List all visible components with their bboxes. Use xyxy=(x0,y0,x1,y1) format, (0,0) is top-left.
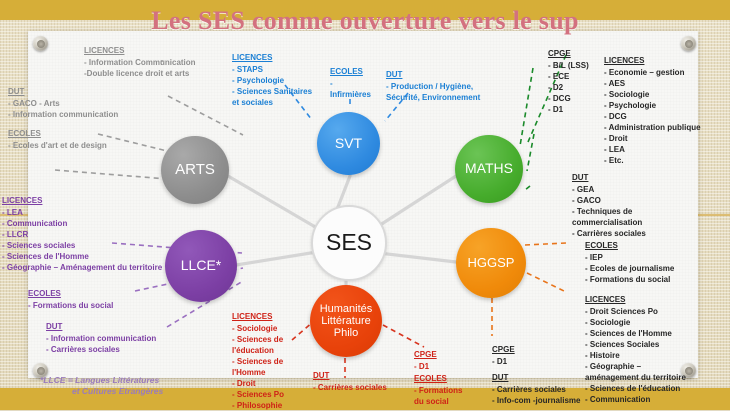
block-svt-dut: DUT - Production / Hygiène, Sécurité, En… xyxy=(386,69,491,103)
block-item: - Sciences de l'éducation xyxy=(232,334,304,356)
block-item: - Sociologie xyxy=(585,317,697,328)
block-item: - Sociologie xyxy=(604,89,709,100)
block-heading: LICENCES xyxy=(232,311,304,322)
block-heading: ECOLES xyxy=(414,373,472,384)
block-item: - Formations du social xyxy=(28,300,158,311)
block-item: - Information communication xyxy=(46,333,181,344)
block-hum-ecoles: ECOLES - Formations du social xyxy=(414,373,472,407)
block-item: - Sciences de l'Homme xyxy=(585,328,697,339)
block-item: - D1 xyxy=(548,104,606,115)
bubble-humanites-line3: Philo xyxy=(334,327,358,339)
block-item: - Droit xyxy=(232,378,304,389)
bubble-hggsp-label: HGGSP xyxy=(468,256,515,271)
block-item: - D2 xyxy=(548,82,606,93)
block-hum-dut: DUT - Carrières sociales xyxy=(313,370,398,393)
block-item: - LEA xyxy=(604,144,709,155)
bubble-arts[interactable]: ARTS xyxy=(161,136,229,204)
block-heading: DUT xyxy=(492,372,592,383)
block-item: - Sciences de l'éducation xyxy=(585,383,697,394)
block-item: - Ecoles d'art et de design xyxy=(8,140,143,151)
block-item: - Communication xyxy=(2,218,167,229)
block-item: - Géographie – aménagement du territoire xyxy=(585,361,697,383)
block-item: - Administration publique xyxy=(604,122,709,133)
block-hum-licences: LICENCES - Sociologie - Sciences de l'éd… xyxy=(232,311,304,411)
block-hum-cpge: CPGE - D1 xyxy=(414,349,474,372)
block-item: - Psychologie xyxy=(232,75,317,86)
block-heading: LICENCES xyxy=(585,294,697,305)
block-heading: CPGE xyxy=(548,48,606,59)
block-item: - Sociologie xyxy=(232,323,304,334)
block-heading: ECOLES xyxy=(585,240,695,251)
block-item: - GEA xyxy=(572,184,664,195)
block-item: - Information communication xyxy=(8,109,143,120)
bubble-humanites-line1: Humanités xyxy=(320,303,373,315)
block-item: - Psychologie xyxy=(604,100,709,111)
block-arts-dut: DUT - GACO - Arts - Information communic… xyxy=(8,86,143,120)
block-item: - Sciences Sociales xyxy=(585,339,697,350)
block-maths-dut: DUT - GEA - GACO - Techniques de commerc… xyxy=(572,172,664,239)
page-title: Les SES comme ouverture vers le sup xyxy=(0,6,730,36)
block-heading: DUT xyxy=(386,69,491,80)
block-heading: CPGE xyxy=(492,344,587,355)
block-item: - Info-com -journalisme xyxy=(492,395,592,406)
block-hggsp-cpge: CPGE - D1 xyxy=(492,344,587,367)
block-item: - Formations du social xyxy=(585,274,695,285)
block-item: - GACO xyxy=(572,195,664,206)
block-item: -Double licence droit et arts xyxy=(84,68,199,79)
block-heading: LICENCES xyxy=(604,55,709,66)
block-heading: LICENCES xyxy=(232,52,317,63)
bubble-llce-label: LLCE* xyxy=(181,258,221,274)
block-item: - Sciences sociales xyxy=(2,240,167,251)
bubble-svt[interactable]: SVT xyxy=(317,112,380,175)
block-hggsp-licences: LICENCES - Droit Sciences Po - Sociologi… xyxy=(585,294,697,405)
block-llce-ecoles: ECOLES - Formations du social xyxy=(28,288,158,311)
block-heading: DUT xyxy=(313,370,398,381)
bubble-maths-label: MATHS xyxy=(465,161,513,177)
block-item: - D1 xyxy=(414,361,474,372)
block-item: - Sciences de l'Homme xyxy=(2,251,167,262)
block-item: - Techniques de commercialisation xyxy=(572,206,664,228)
block-item: - ECE xyxy=(548,71,606,82)
block-llce-licences: LICENCES - LEA - Communication - LLCR - … xyxy=(2,195,167,273)
block-item: - Carrières sociales xyxy=(572,228,664,239)
block-hggsp-dut: DUT - Carrières sociales - Info-com -jou… xyxy=(492,372,592,406)
block-item: - Droit Sciences Po xyxy=(585,306,697,317)
block-hggsp-ecoles: ECOLES - IEP - Ecoles de journalisme - F… xyxy=(585,240,695,285)
block-item: - Philosophie xyxy=(232,400,304,411)
block-item: Infirmières xyxy=(330,89,370,100)
block-item: - GACO - Arts xyxy=(8,98,143,109)
block-item: - Carrières sociales xyxy=(492,384,592,395)
bubble-humanites-line2: Littérature xyxy=(321,315,371,327)
footnote-line-2: et Cultures Etrangères xyxy=(40,386,163,397)
block-item: - Histoire xyxy=(585,350,697,361)
block-item: Sécurité, Environnement xyxy=(386,92,491,103)
block-item: - Carrières sociales xyxy=(313,382,398,393)
block-item: - STAPS xyxy=(232,64,317,75)
block-item: - LEA xyxy=(2,207,167,218)
block-heading: ECOLES xyxy=(330,66,370,77)
bubble-hggsp[interactable]: HGGSP xyxy=(456,228,526,298)
block-item: - Information Communication xyxy=(84,57,199,68)
block-heading: ECOLES xyxy=(8,128,143,139)
block-item: - D1 xyxy=(492,356,587,367)
block-item: - Sciences de l'Homme xyxy=(232,356,304,378)
block-item: - B/L (LSS) xyxy=(548,60,606,71)
block-svt-ecoles: ECOLES - Infirmières xyxy=(330,66,370,100)
block-item: - Ecoles de journalisme xyxy=(585,263,695,274)
block-item: - xyxy=(330,78,370,89)
block-item: - Production / Hygiène, xyxy=(386,81,491,92)
block-heading: ECOLES xyxy=(28,288,158,299)
footnote-llce: *LLCE = Langues Littératures et Cultures… xyxy=(40,375,240,398)
block-item: - Droit xyxy=(604,133,709,144)
block-item: - Etc. xyxy=(604,155,709,166)
bubble-arts-label: ARTS xyxy=(175,162,215,179)
block-item: - Carrières sociales xyxy=(46,344,181,355)
footnote-line-1: *LLCE = Langues Littératures xyxy=(40,375,159,385)
block-item: - LLCR xyxy=(2,229,167,240)
bubble-ses[interactable]: SES xyxy=(311,205,387,281)
block-heading: DUT xyxy=(572,172,664,183)
block-maths-cpge: CPGE - B/L (LSS) - ECE - D2 - DCG - D1 xyxy=(548,48,606,115)
block-svt-licences: LICENCES - STAPS - Psychologie - Science… xyxy=(232,52,317,108)
block-arts-ecoles: ECOLES - Ecoles d'art et de design xyxy=(8,128,143,151)
bubble-ses-label: SES xyxy=(326,230,372,256)
block-item: - Géographie – Aménagement du territoire xyxy=(2,262,167,273)
block-item: - Sciences Sanitaires et sociales xyxy=(232,86,317,108)
block-heading: LICENCES xyxy=(84,45,199,56)
block-item: - Economie – gestion xyxy=(604,67,709,78)
block-item: - IEP xyxy=(585,252,695,263)
bubble-svt-label: SVT xyxy=(335,136,362,152)
block-item: - AES xyxy=(604,78,709,89)
block-item: - Formations du social xyxy=(414,385,472,407)
block-item: - Sciences Po xyxy=(232,389,304,400)
block-heading: DUT xyxy=(46,321,181,332)
block-heading: CPGE xyxy=(414,349,474,360)
block-item: - Communication xyxy=(585,394,697,405)
bubble-maths[interactable]: MATHS xyxy=(455,135,523,203)
block-llce-dut: DUT - Information communication - Carriè… xyxy=(46,321,181,355)
block-maths-licences: LICENCES - Economie – gestion - AES - So… xyxy=(604,55,709,166)
block-arts-licences: LICENCES - Information Communication -Do… xyxy=(84,45,199,79)
block-item: - DCG xyxy=(604,111,709,122)
bubble-humanites[interactable]: Humanités Littérature Philo xyxy=(310,285,382,357)
block-heading: DUT xyxy=(8,86,143,97)
block-heading: LICENCES xyxy=(2,195,167,206)
bubble-humanites-label: Humanités Littérature Philo xyxy=(320,303,373,340)
bubble-llce[interactable]: LLCE* xyxy=(165,230,237,302)
block-item: - DCG xyxy=(548,93,606,104)
